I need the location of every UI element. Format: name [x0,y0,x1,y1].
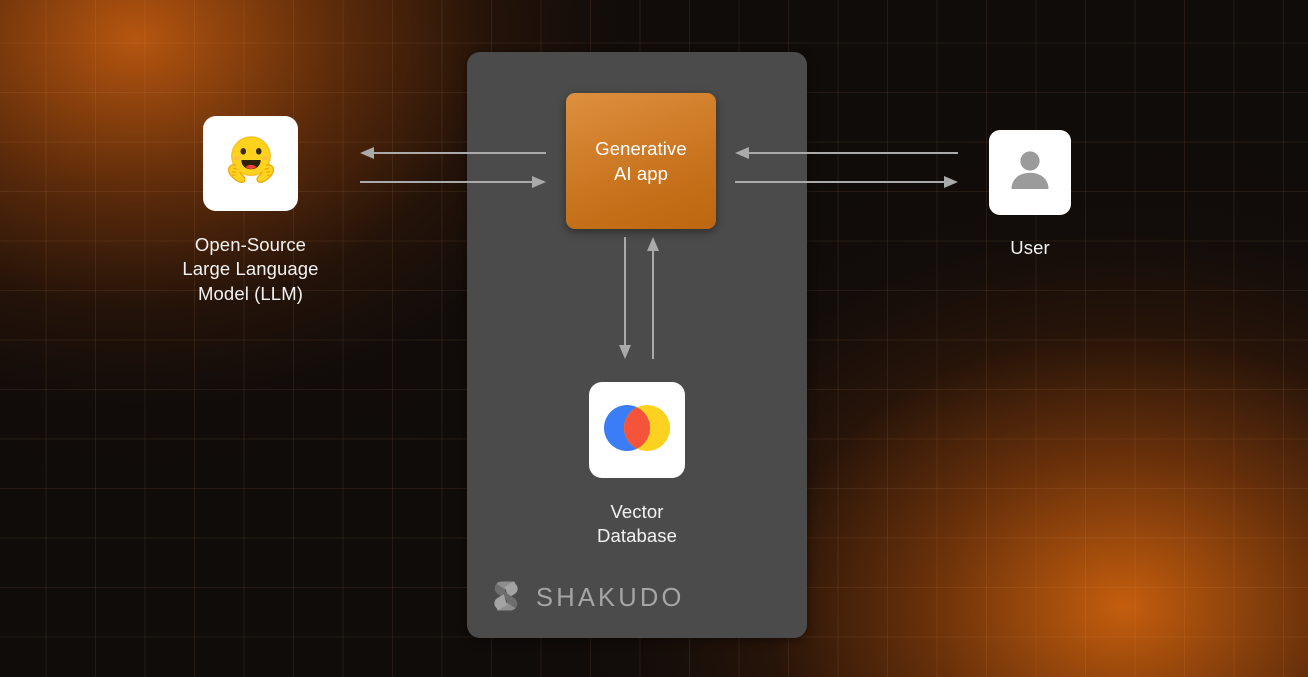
user-node[interactable] [989,130,1071,215]
vector-database-node[interactable] [589,382,685,478]
vector-database-icon [604,402,670,459]
arrow-app-to-user [735,175,958,189]
arrow-app-to-vector-db [618,237,632,359]
shakudo-logo-icon [489,578,523,619]
hugging-face-icon [220,130,282,197]
shakudo-wordmark: SHAKUDO [536,584,685,613]
arrow-user-to-app [735,146,958,160]
arrow-llm-to-app [360,175,546,189]
arrow-app-to-llm [360,146,546,160]
diagram-canvas: Generative AI app [0,0,1308,677]
arrow-vector-db-to-app [646,237,660,359]
llm-label: Open-Source Large Language Model (LLM) [130,233,371,306]
generative-ai-app-node[interactable]: Generative AI app [566,93,716,229]
user-avatar-icon [1005,145,1055,200]
user-label: User [950,236,1110,260]
shakudo-brand: SHAKUDO [489,578,685,619]
generative-ai-app-label: Generative AI app [595,136,687,186]
vector-database-label: Vector Database [547,500,727,549]
llm-node[interactable] [203,116,298,211]
